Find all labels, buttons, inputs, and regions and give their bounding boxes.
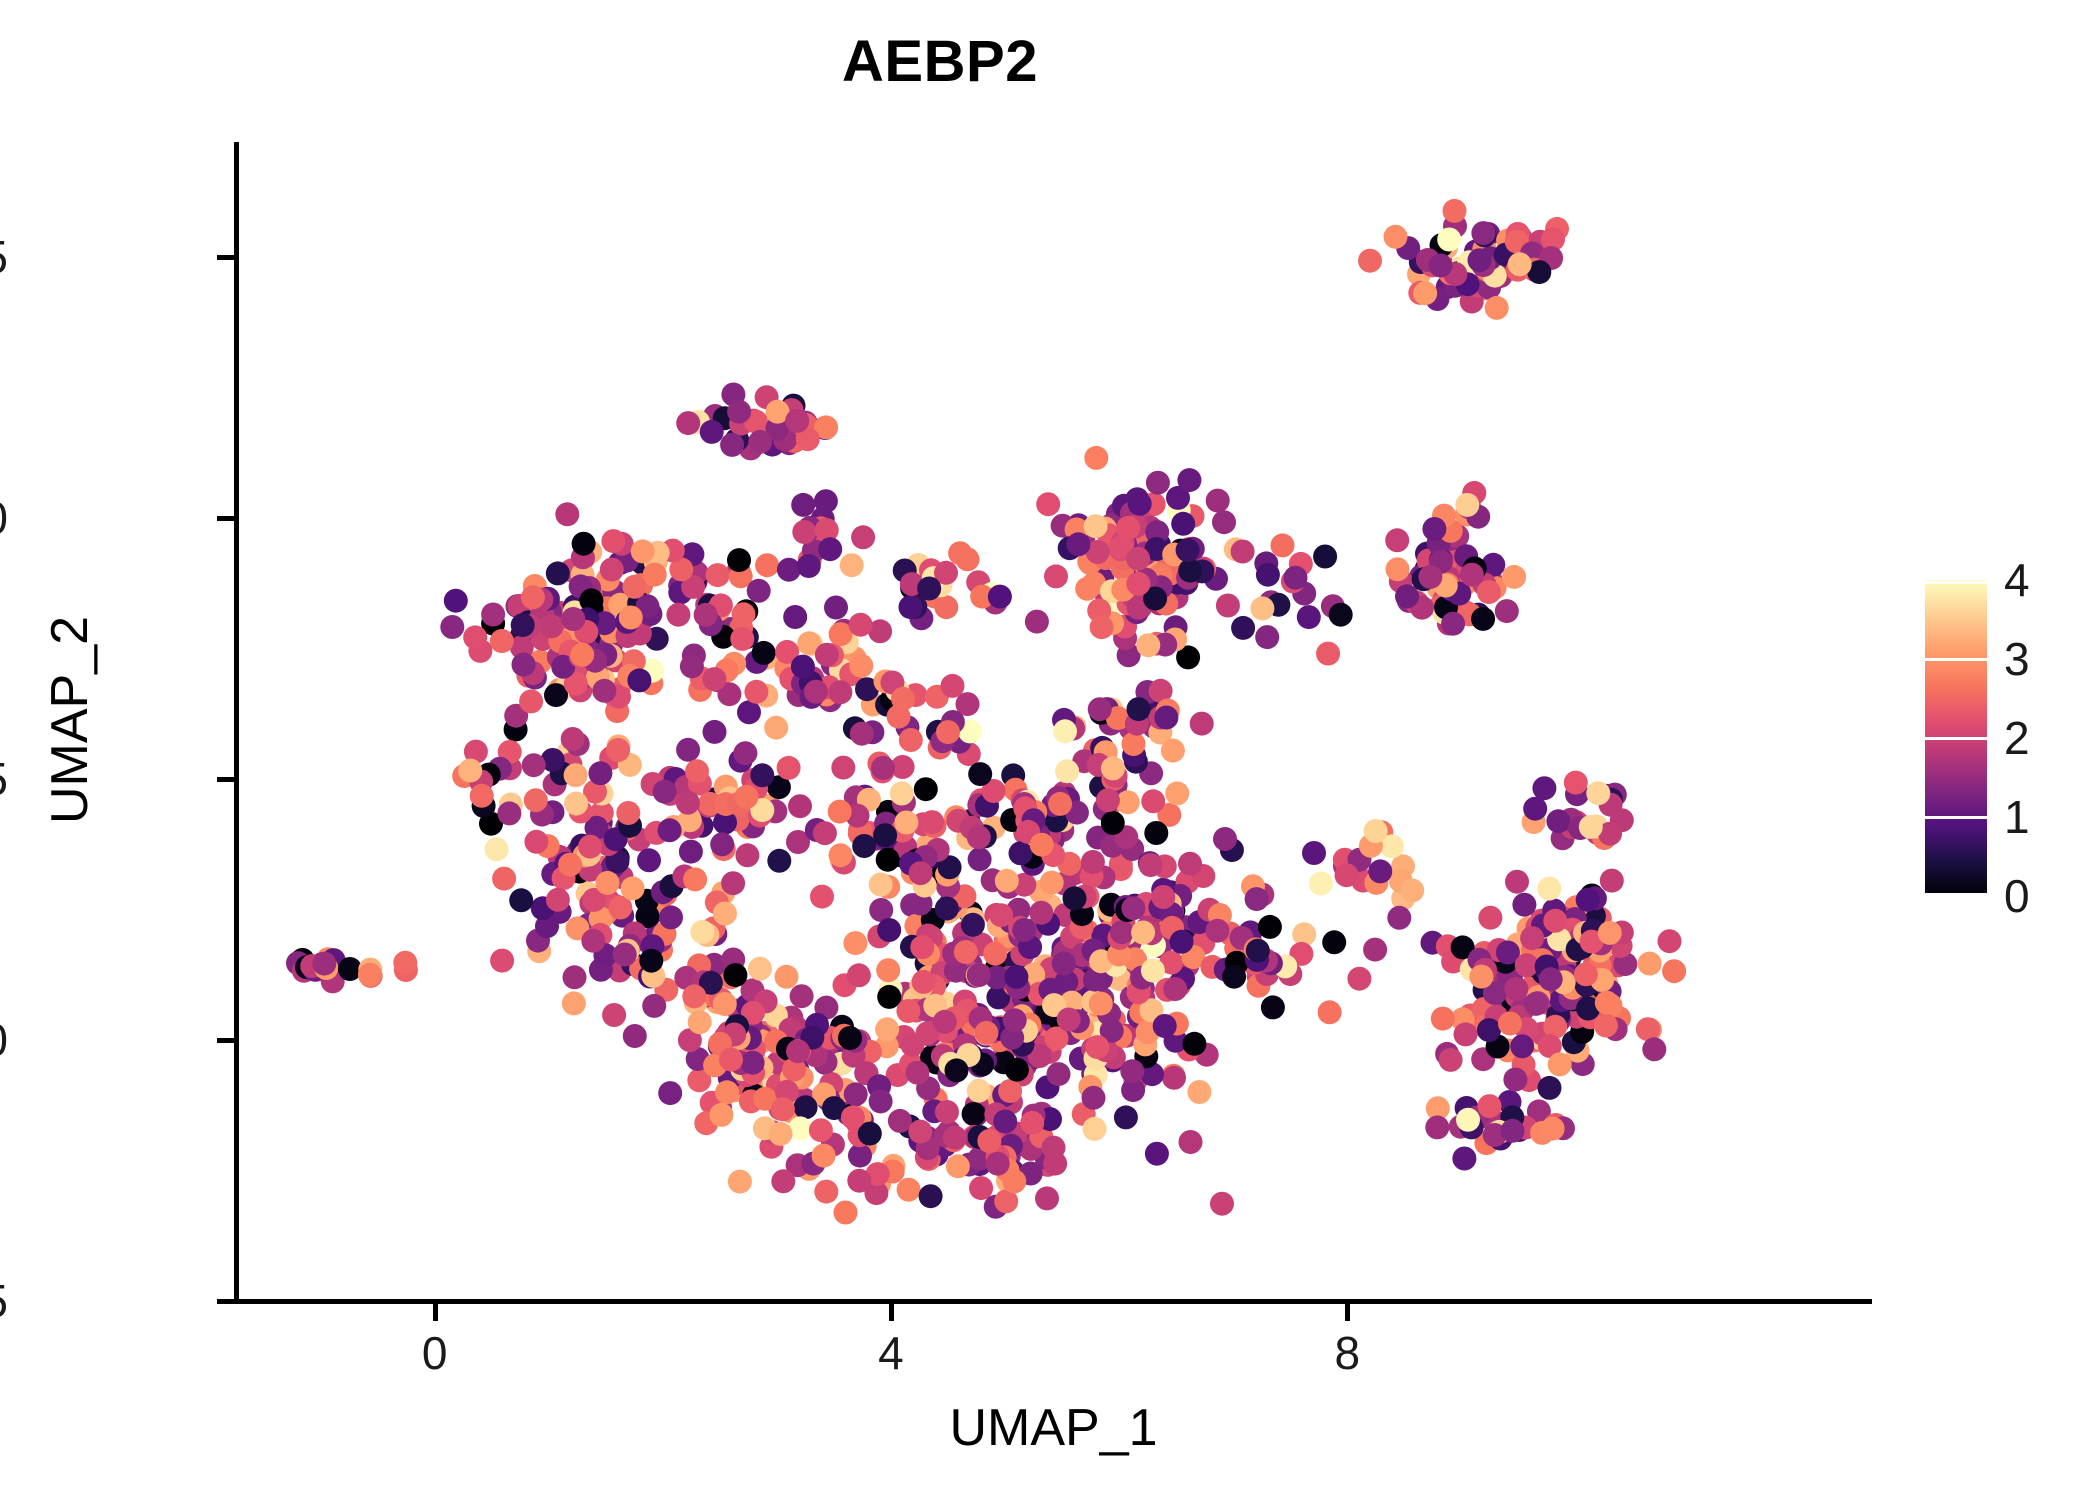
scatter-point	[869, 1089, 893, 1113]
scatter-points-layer	[235, 142, 1872, 1301]
scatter-point	[1384, 225, 1408, 249]
scatter-point	[1144, 821, 1168, 845]
scatter-point	[1066, 532, 1090, 556]
scatter-point	[1271, 533, 1295, 557]
scatter-point	[1035, 1186, 1059, 1210]
scatter-point	[1477, 1018, 1501, 1042]
scatter-point	[570, 643, 594, 667]
scatter-point	[623, 1024, 647, 1048]
scatter-point	[1082, 1086, 1106, 1110]
scatter-point	[824, 596, 848, 620]
scatter-point	[1101, 756, 1125, 780]
scatter-point	[578, 835, 602, 859]
umap-feature-plot: AEBP2 -2.50.02.55.07.5 048 UMAP_2 UMAP_1	[0, 0, 2100, 1500]
scatter-point	[977, 1129, 1001, 1153]
scatter-point	[524, 788, 548, 812]
scatter-point	[1508, 252, 1532, 276]
scatter-point	[1126, 547, 1150, 571]
scatter-point	[627, 668, 651, 692]
scatter-point	[1503, 1068, 1527, 1092]
scatter-point	[1364, 819, 1388, 843]
scatter-point	[1642, 1037, 1666, 1061]
scatter-point	[791, 655, 815, 679]
scatter-point	[946, 1154, 970, 1178]
scatter-point	[1053, 719, 1077, 743]
scatter-point	[812, 1144, 836, 1168]
scatter-point	[1387, 906, 1411, 930]
scatter-point	[563, 965, 587, 989]
scatter-point	[804, 680, 828, 704]
scatter-point	[995, 869, 1019, 893]
scatter-point	[1598, 921, 1622, 945]
scatter-point	[613, 943, 637, 967]
scatter-point	[463, 625, 487, 649]
scatter-point	[1454, 1022, 1478, 1046]
scatter-point	[1548, 1052, 1572, 1076]
scatter-point	[1020, 1111, 1044, 1135]
scatter-point	[752, 641, 776, 665]
scatter-point	[876, 958, 900, 982]
y-tick-mark	[217, 1038, 234, 1043]
scatter-point	[748, 430, 772, 454]
scatter-point	[786, 1039, 810, 1063]
scatter-point	[936, 720, 960, 744]
scatter-point	[727, 400, 751, 424]
scatter-point	[967, 1079, 991, 1103]
y-tick-label: -2.5	[0, 1274, 8, 1328]
scatter-point	[1246, 939, 1270, 963]
colorbar-legend: 01234	[1920, 570, 2090, 910]
scatter-point	[794, 1095, 818, 1119]
scatter-point	[546, 888, 570, 912]
scatter-point	[601, 529, 625, 553]
scatter-point	[1212, 510, 1236, 534]
scatter-point	[1178, 852, 1202, 876]
scatter-point	[1322, 930, 1346, 954]
scatter-point	[775, 965, 799, 989]
scatter-point	[1005, 1058, 1029, 1082]
scatter-point	[512, 653, 536, 677]
scatter-point	[1116, 516, 1140, 540]
scatter-point	[623, 575, 647, 599]
scatter-point	[1231, 540, 1255, 564]
scatter-point	[358, 963, 382, 987]
scatter-point	[1520, 926, 1544, 950]
scatter-point	[917, 577, 941, 601]
scatter-point	[602, 1003, 626, 1027]
scatter-point	[733, 741, 757, 765]
scatter-point	[1003, 1008, 1027, 1032]
scatter-point	[840, 553, 864, 577]
scatter-point	[1136, 633, 1160, 657]
scatter-point	[728, 1170, 752, 1194]
scatter-point	[555, 502, 579, 526]
scatter-point	[1658, 929, 1682, 953]
scatter-point	[1329, 603, 1353, 627]
x-tick-label: 4	[831, 1326, 951, 1380]
scatter-point	[572, 532, 596, 556]
scatter-point	[1114, 1105, 1138, 1129]
x-tick-mark	[433, 1304, 438, 1321]
scatter-point	[876, 848, 900, 872]
scatter-point	[703, 720, 727, 744]
scatter-point	[813, 821, 837, 845]
scatter-point	[676, 411, 700, 435]
scatter-point	[899, 595, 923, 619]
scatter-point	[829, 843, 853, 867]
scatter-point	[748, 957, 772, 981]
scatter-point	[894, 811, 918, 835]
scatter-point	[849, 654, 873, 678]
scatter-point	[1171, 512, 1195, 536]
scatter-point	[993, 1110, 1017, 1134]
scatter-point	[735, 843, 759, 867]
scatter-point	[1418, 565, 1442, 589]
scatter-point	[1541, 1117, 1565, 1141]
scatter-point	[935, 897, 959, 921]
scatter-point	[1425, 1115, 1449, 1139]
scatter-point	[727, 548, 751, 572]
y-tick-label: 7.5	[0, 230, 8, 284]
scatter-point	[1471, 607, 1495, 631]
scatter-point	[920, 810, 944, 834]
scatter-point	[1210, 1192, 1234, 1216]
scatter-point	[1161, 739, 1185, 763]
scatter-point	[1040, 871, 1064, 895]
scatter-point	[914, 777, 938, 801]
scatter-point	[1468, 248, 1492, 272]
scatter-point	[869, 873, 893, 897]
scatter-point	[490, 949, 514, 973]
scatter-point	[814, 1180, 838, 1204]
scatter-point	[616, 801, 640, 825]
scatter-point	[723, 963, 747, 987]
x-tick-label: 8	[1287, 1326, 1407, 1380]
scatter-point	[1101, 811, 1125, 835]
scatter-point	[522, 753, 546, 777]
scatter-point	[1261, 995, 1285, 1019]
scatter-point	[967, 963, 991, 987]
scatter-point	[1146, 471, 1170, 495]
scatter-point	[974, 1021, 998, 1045]
scatter-point	[1048, 792, 1072, 816]
scatter-point	[1564, 771, 1588, 795]
scatter-point	[771, 1169, 795, 1193]
scatter-point	[709, 1103, 733, 1127]
scatter-point	[834, 1201, 858, 1225]
scatter-point	[680, 654, 704, 678]
scatter-point	[1309, 871, 1333, 895]
scatter-point	[706, 563, 730, 587]
scatter-point	[1178, 559, 1202, 583]
scatter-point	[848, 1144, 872, 1168]
scatter-point	[688, 1010, 712, 1034]
scatter-point	[1284, 566, 1308, 590]
scatter-point	[873, 823, 897, 847]
scatter-point	[666, 603, 690, 627]
scatter-point	[1258, 915, 1282, 939]
scatter-point	[732, 602, 756, 626]
scatter-point	[658, 818, 682, 842]
scatter-point	[713, 992, 737, 1016]
scatter-point	[1543, 909, 1567, 933]
scatter-point	[1469, 965, 1493, 989]
scatter-point	[943, 1126, 967, 1150]
scatter-point	[1126, 572, 1150, 596]
scatter-point	[564, 763, 588, 787]
scatter-point	[1004, 965, 1028, 989]
colorbar-tick-mark	[1925, 737, 1987, 740]
scatter-point	[562, 991, 586, 1015]
scatter-point	[1036, 492, 1060, 516]
scatter-point	[519, 689, 543, 713]
scatter-point	[1368, 859, 1392, 883]
scatter-point	[685, 759, 709, 783]
scatter-point	[561, 727, 585, 751]
scatter-point	[444, 589, 468, 613]
scatter-point	[1187, 1080, 1211, 1104]
scatter-point	[1055, 759, 1079, 783]
scatter-point	[521, 585, 545, 609]
scatter-point	[851, 525, 875, 549]
scatter-point	[1546, 809, 1570, 833]
scatter-point	[843, 931, 867, 955]
scatter-point	[679, 840, 703, 864]
scatter-point	[1131, 921, 1155, 945]
y-tick-label: 5.0	[0, 491, 8, 545]
scatter-point	[702, 667, 726, 691]
scatter-point	[720, 433, 744, 457]
scatter-point	[954, 940, 978, 964]
scatter-point	[828, 800, 852, 824]
scatter-point	[621, 876, 645, 900]
scatter-point	[1478, 906, 1502, 930]
scatter-point	[734, 785, 758, 809]
colorbar-label: 0	[2004, 869, 2030, 923]
scatter-point	[1439, 1048, 1463, 1072]
scatter-point	[1176, 538, 1200, 562]
scatter-point	[600, 558, 624, 582]
scatter-point	[1502, 565, 1526, 589]
scatter-point	[905, 1061, 929, 1085]
scatter-point	[967, 825, 991, 849]
scatter-point	[899, 728, 923, 752]
scatter-point	[1139, 853, 1163, 877]
scatter-point	[1313, 545, 1337, 569]
scatter-point	[1255, 625, 1279, 649]
scatter-point	[785, 409, 809, 433]
scatter-point	[1395, 584, 1419, 608]
scatter-point	[941, 674, 965, 698]
scatter-point	[1532, 776, 1556, 800]
scatter-point	[682, 984, 706, 1008]
scatter-point	[719, 1048, 743, 1072]
scatter-point	[1096, 788, 1120, 812]
scatter-point	[1088, 697, 1112, 721]
scatter-point	[1222, 965, 1246, 989]
scatter-point	[1009, 841, 1033, 865]
scatter-point	[1141, 789, 1165, 813]
scatter-point	[1165, 781, 1189, 805]
scatter-point	[659, 905, 683, 929]
scatter-point	[1145, 1142, 1169, 1166]
scatter-point	[312, 952, 336, 976]
scatter-point	[1120, 1059, 1144, 1083]
scatter-point	[1154, 706, 1178, 730]
scatter-point	[1205, 919, 1229, 943]
colorbar-tick-mark	[1925, 816, 1987, 819]
scatter-point	[956, 547, 980, 571]
scatter-point	[658, 1081, 682, 1105]
scatter-point	[1505, 870, 1529, 894]
scatter-point	[1084, 446, 1108, 470]
scatter-point	[771, 1097, 795, 1121]
scatter-point	[1498, 1012, 1522, 1036]
scatter-point	[1081, 850, 1105, 874]
scatter-point	[642, 994, 666, 1018]
scatter-point	[983, 942, 1007, 966]
scatter-point	[797, 554, 821, 578]
scatter-point	[986, 1152, 1010, 1176]
colorbar-label: 4	[2004, 553, 2030, 607]
scatter-point	[1523, 797, 1547, 821]
scatter-point	[741, 1051, 765, 1075]
scatter-point	[1347, 967, 1371, 991]
scatter-point	[962, 1102, 986, 1126]
scatter-point	[945, 1058, 969, 1082]
scatter-point	[1002, 1169, 1026, 1193]
scatter-point	[715, 1080, 739, 1104]
colorbar-label: 2	[2004, 711, 2030, 765]
scatter-point	[1047, 1062, 1071, 1086]
scatter-point	[511, 613, 535, 637]
scatter-point	[912, 970, 936, 994]
scatter-point	[561, 607, 585, 631]
scatter-point	[847, 963, 871, 987]
scatter-point	[1501, 1119, 1525, 1143]
scatter-point	[1025, 610, 1049, 634]
x-tick-label: 0	[375, 1326, 495, 1380]
scatter-point	[810, 885, 834, 909]
scatter-point	[871, 756, 895, 780]
scatter-point	[1122, 732, 1146, 756]
scatter-point	[1638, 952, 1662, 976]
scatter-point	[828, 680, 852, 704]
scatter-point	[737, 700, 761, 724]
scatter-point	[767, 849, 791, 873]
scatter-point	[1231, 616, 1255, 640]
scatter-point	[850, 722, 874, 746]
scatter-point	[592, 679, 616, 703]
scatter-point	[750, 763, 774, 787]
scatter-point	[1363, 938, 1387, 962]
scatter-point	[690, 920, 714, 944]
scatter-point	[744, 680, 768, 704]
y-axis-title: UMAP_2	[40, 480, 100, 960]
scatter-point	[558, 853, 582, 877]
scatter-point	[788, 794, 812, 818]
scatter-point	[721, 871, 745, 895]
scatter-point	[847, 1169, 871, 1193]
scatter-point	[1455, 493, 1479, 517]
scatter-point	[458, 759, 482, 783]
scatter-point	[1182, 1032, 1206, 1056]
scatter-point	[643, 563, 667, 587]
scatter-point	[1537, 877, 1561, 901]
page-title: AEBP2	[0, 28, 1880, 95]
scatter-point	[1044, 564, 1068, 588]
scatter-point	[1084, 514, 1108, 538]
scatter-point	[1042, 1136, 1066, 1160]
colorbar-label: 1	[2004, 790, 2030, 844]
scatter-point	[564, 792, 588, 816]
x-axis-title: UMAP_1	[235, 1398, 1872, 1458]
scatter-point	[492, 867, 516, 891]
scatter-point	[1177, 468, 1201, 492]
colorbar-tick-mark	[1925, 581, 1987, 584]
scatter-point	[683, 867, 707, 891]
scatter-point	[769, 1122, 793, 1146]
scatter-point	[1063, 886, 1087, 910]
scatter-point	[919, 1184, 943, 1208]
scatter-point	[1512, 893, 1536, 917]
scatter-point	[1127, 697, 1151, 721]
scatter-point	[1085, 1035, 1109, 1059]
scatter-point	[1441, 612, 1465, 636]
scatter-point	[1250, 596, 1274, 620]
scatter-point	[1586, 781, 1610, 805]
scatter-point	[1121, 896, 1145, 920]
scatter-point	[1478, 1094, 1502, 1118]
scatter-point	[877, 918, 901, 942]
scatter-point	[1052, 952, 1076, 976]
scatter-point	[1456, 1108, 1480, 1132]
scatter-point	[1190, 712, 1214, 736]
scatter-point	[818, 537, 842, 561]
scatter-point	[777, 558, 801, 582]
scatter-point	[988, 585, 1012, 609]
scatter-point	[1437, 228, 1461, 252]
x-axis-line	[234, 1299, 1872, 1304]
scatter-point	[844, 1082, 868, 1106]
scatter-point	[1385, 528, 1409, 552]
scatter-point	[1153, 1014, 1177, 1038]
scatter-point	[1245, 887, 1269, 911]
scatter-point	[606, 738, 630, 762]
scatter-point	[1297, 605, 1321, 629]
y-axis-line	[234, 142, 239, 1304]
scatter-point	[1524, 992, 1548, 1016]
scatter-point	[1206, 489, 1230, 513]
plot-panel	[235, 142, 1872, 1301]
y-tick-mark	[217, 1299, 234, 1304]
scatter-point	[935, 1100, 959, 1124]
scatter-point	[1090, 615, 1114, 639]
scatter-point	[838, 1026, 862, 1050]
colorbar-tick-mark	[1925, 893, 1987, 896]
scatter-point	[1216, 594, 1240, 618]
scatter-point	[440, 615, 464, 639]
scatter-point	[1422, 517, 1446, 541]
scatter-point	[1335, 863, 1359, 887]
scatter-point	[968, 762, 992, 786]
scatter-point	[934, 595, 958, 619]
scatter-point	[1163, 977, 1187, 1001]
scatter-point	[790, 984, 814, 1008]
scatter-point	[1594, 1014, 1618, 1038]
scatter-point	[877, 985, 901, 1009]
scatter-point	[1030, 833, 1054, 857]
